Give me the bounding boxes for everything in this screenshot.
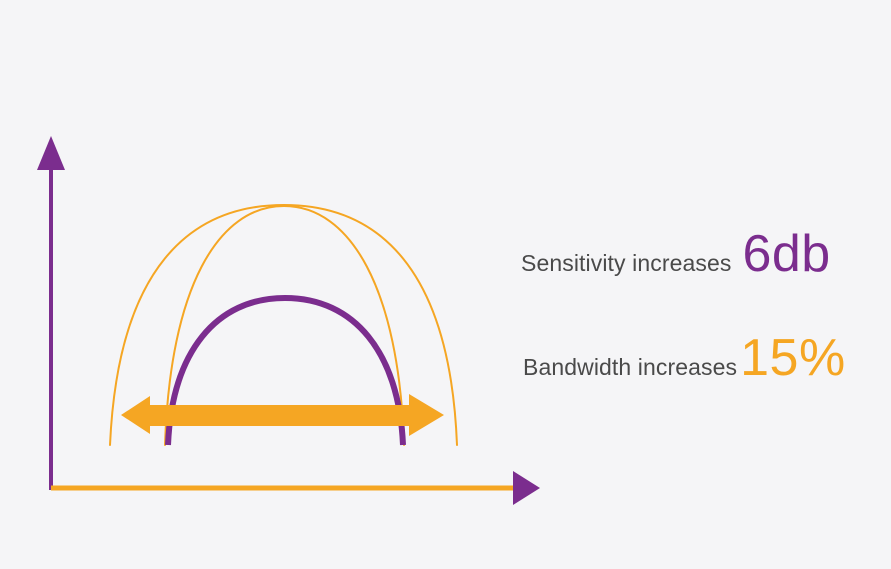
stat-sensitivity-value: 6db <box>742 228 830 280</box>
stat-sensitivity: Sensitivity increases 6db <box>521 228 831 280</box>
stat-bandwidth-value: 15% <box>740 332 846 384</box>
bandwidth-arrow-right-head-icon <box>409 394 444 436</box>
stat-bandwidth: Bandwidth increases 15% <box>523 332 846 384</box>
stat-bandwidth-label: Bandwidth increases <box>523 354 737 381</box>
stat-sensitivity-label: Sensitivity increases <box>521 250 731 277</box>
bandwidth-arrow-bar <box>148 405 411 426</box>
stats-callout-panel: Sensitivity increases 6db Bandwidth incr… <box>500 200 891 400</box>
vertical-axis-arrow-icon <box>37 136 65 170</box>
horizontal-axis-arrow-icon <box>513 471 540 505</box>
bandwidth-arrow-left-head-icon <box>121 396 150 434</box>
